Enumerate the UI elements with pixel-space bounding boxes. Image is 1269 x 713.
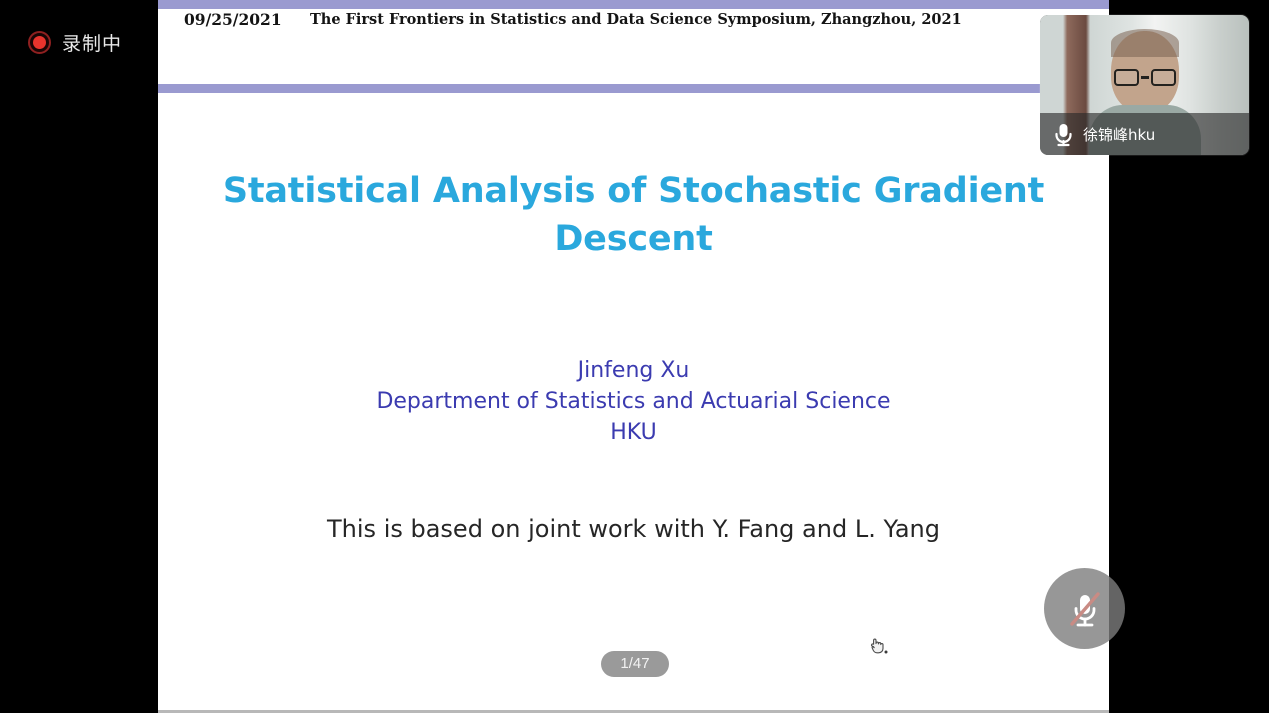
author-department: Department of Statistics and Actuarial S… [188, 386, 1079, 417]
slide-author-block: Jinfeng Xu Department of Statistics and … [188, 355, 1079, 448]
microphone-muted-icon [1062, 586, 1108, 632]
mute-toggle-button[interactable] [1044, 568, 1125, 649]
participant-name-bar: 徐锦峰hku [1040, 113, 1249, 155]
slide-header-rule-top [158, 0, 1109, 9]
recording-label: 录制中 [62, 29, 122, 56]
author-institution: HKU [188, 417, 1079, 448]
author-name: Jinfeng Xu [188, 355, 1079, 386]
zoom-screen-share-window: 录制中 09/25/2021 The First Frontiers in St… [0, 0, 1269, 713]
participant-video-tile[interactable]: 徐锦峰hku [1040, 15, 1249, 155]
grab-hand-cursor-icon [866, 634, 890, 658]
slide-title: Statistical Analysis of Stochastic Gradi… [188, 167, 1079, 263]
microphone-icon [1053, 122, 1074, 147]
slide-header-date: 09/25/2021 [184, 10, 282, 29]
slide-joint-work-note: This is based on joint work with Y. Fang… [188, 515, 1079, 543]
participant-name: 徐锦峰hku [1083, 124, 1155, 145]
page-indicator: 1/47 [601, 651, 669, 677]
recording-indicator: 录制中 [28, 29, 122, 56]
shared-slide[interactable]: 09/25/2021 The First Frontiers in Statis… [158, 0, 1109, 711]
slide-header-rule-bottom [158, 84, 1109, 93]
recording-dot-icon [28, 31, 51, 54]
slide-header-event: The First Frontiers in Statistics and Da… [310, 11, 962, 28]
